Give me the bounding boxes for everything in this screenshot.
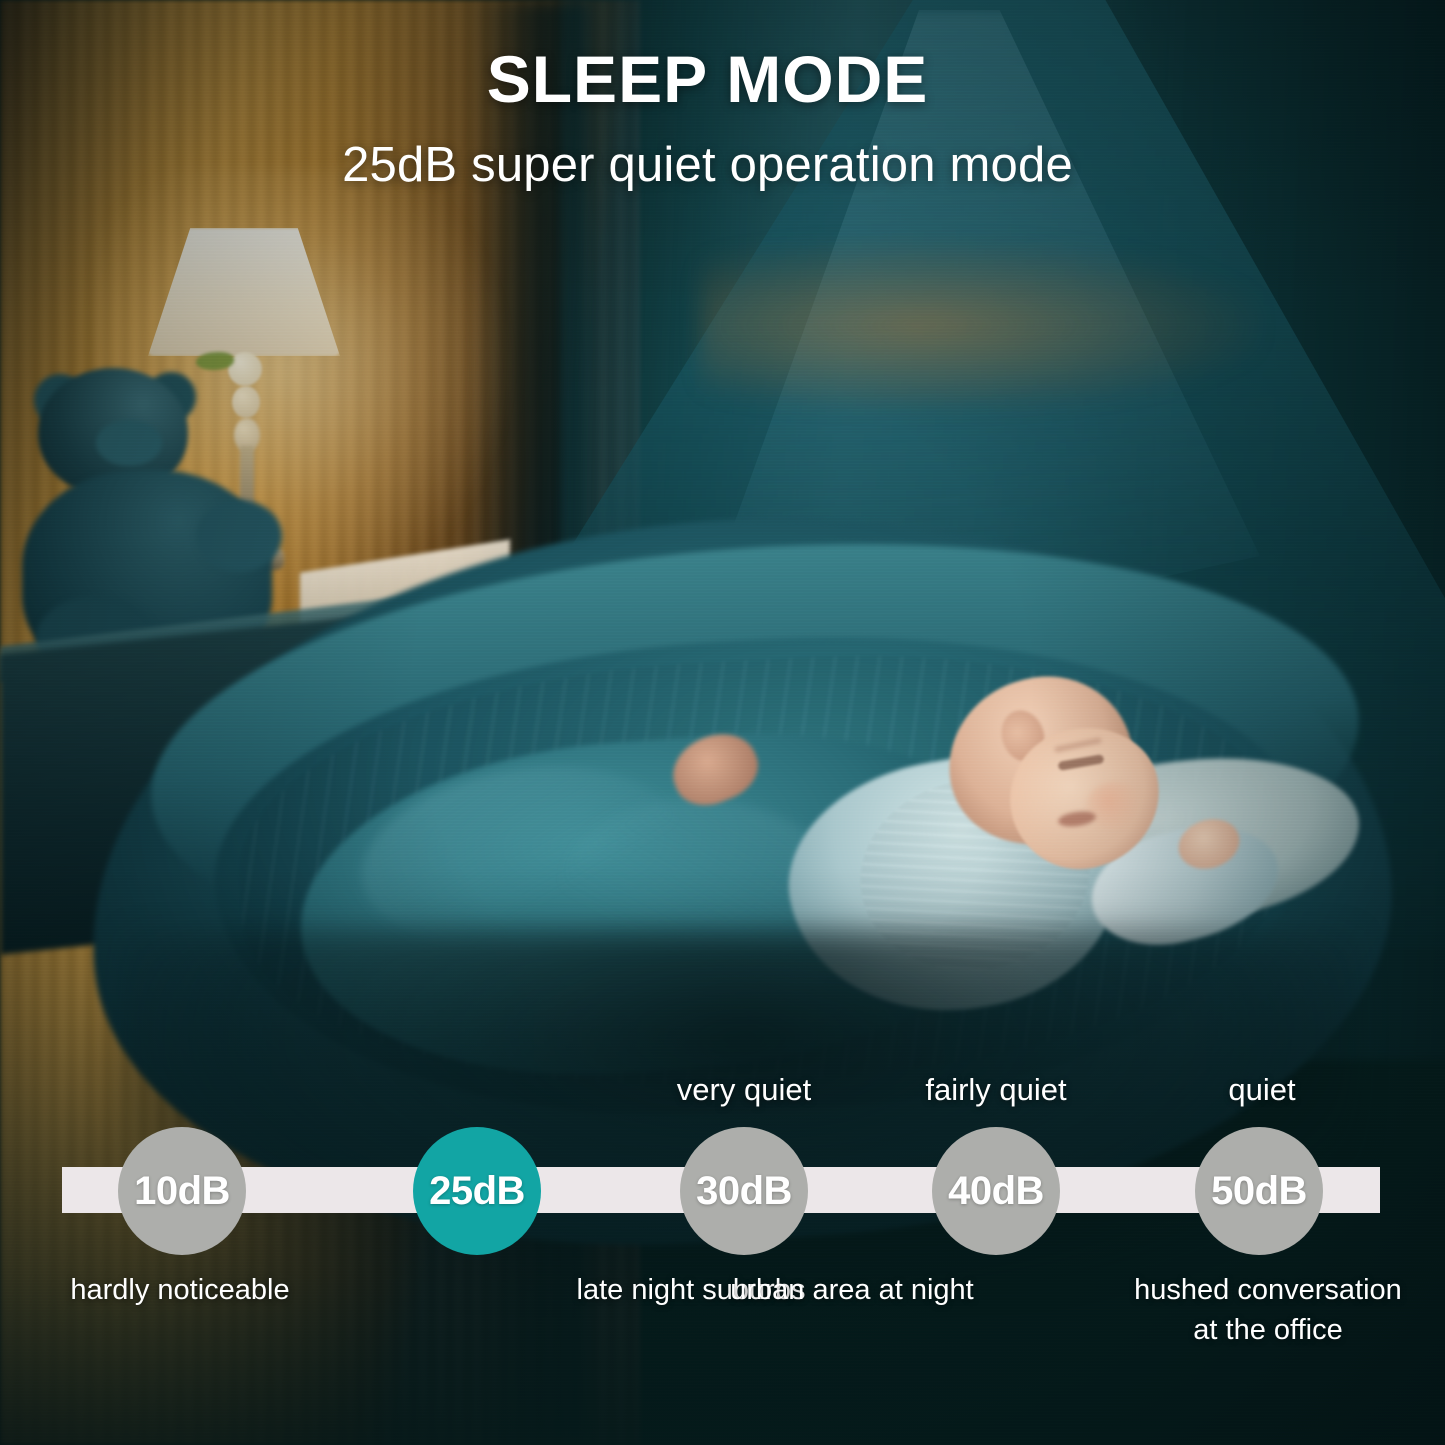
top-label-quiet: quiet — [1228, 1072, 1295, 1108]
bottom-label-hushed-line-1: hushed conversation — [1108, 1270, 1428, 1310]
scale-node-25db-label: 25dB — [429, 1169, 525, 1214]
scale-node-40db[interactable]: 40dB — [932, 1127, 1060, 1255]
sleep-mode-infographic: SLEEP MODE 25dB super quiet operation mo… — [0, 0, 1445, 1445]
scale-node-50db[interactable]: 50dB — [1195, 1127, 1323, 1255]
scale-node-50db-label: 50dB — [1211, 1169, 1307, 1214]
bottom-label-hushed-line-2: at the office — [1108, 1310, 1428, 1350]
scale-node-10db[interactable]: 10dB — [118, 1127, 246, 1255]
bottom-label-hardly-noticeable: hardly noticeable — [70, 1270, 289, 1310]
scale-node-25db-active[interactable]: 25dB — [413, 1127, 541, 1255]
bottom-label-urban-area-at-night: urban area at night — [730, 1270, 973, 1310]
db-scale: very quiet fairly quiet quiet 10dB 25dB … — [0, 0, 1445, 1445]
top-label-very-quiet: very quiet — [677, 1072, 811, 1108]
top-label-fairly-quiet: fairly quiet — [925, 1072, 1066, 1108]
scale-node-30db[interactable]: 30dB — [680, 1127, 808, 1255]
scale-node-10db-label: 10dB — [134, 1169, 230, 1214]
scale-node-30db-label: 30dB — [696, 1169, 792, 1214]
bottom-label-hushed-conversation: hushed conversation at the office — [1108, 1270, 1428, 1350]
scale-node-40db-label: 40dB — [948, 1169, 1044, 1214]
